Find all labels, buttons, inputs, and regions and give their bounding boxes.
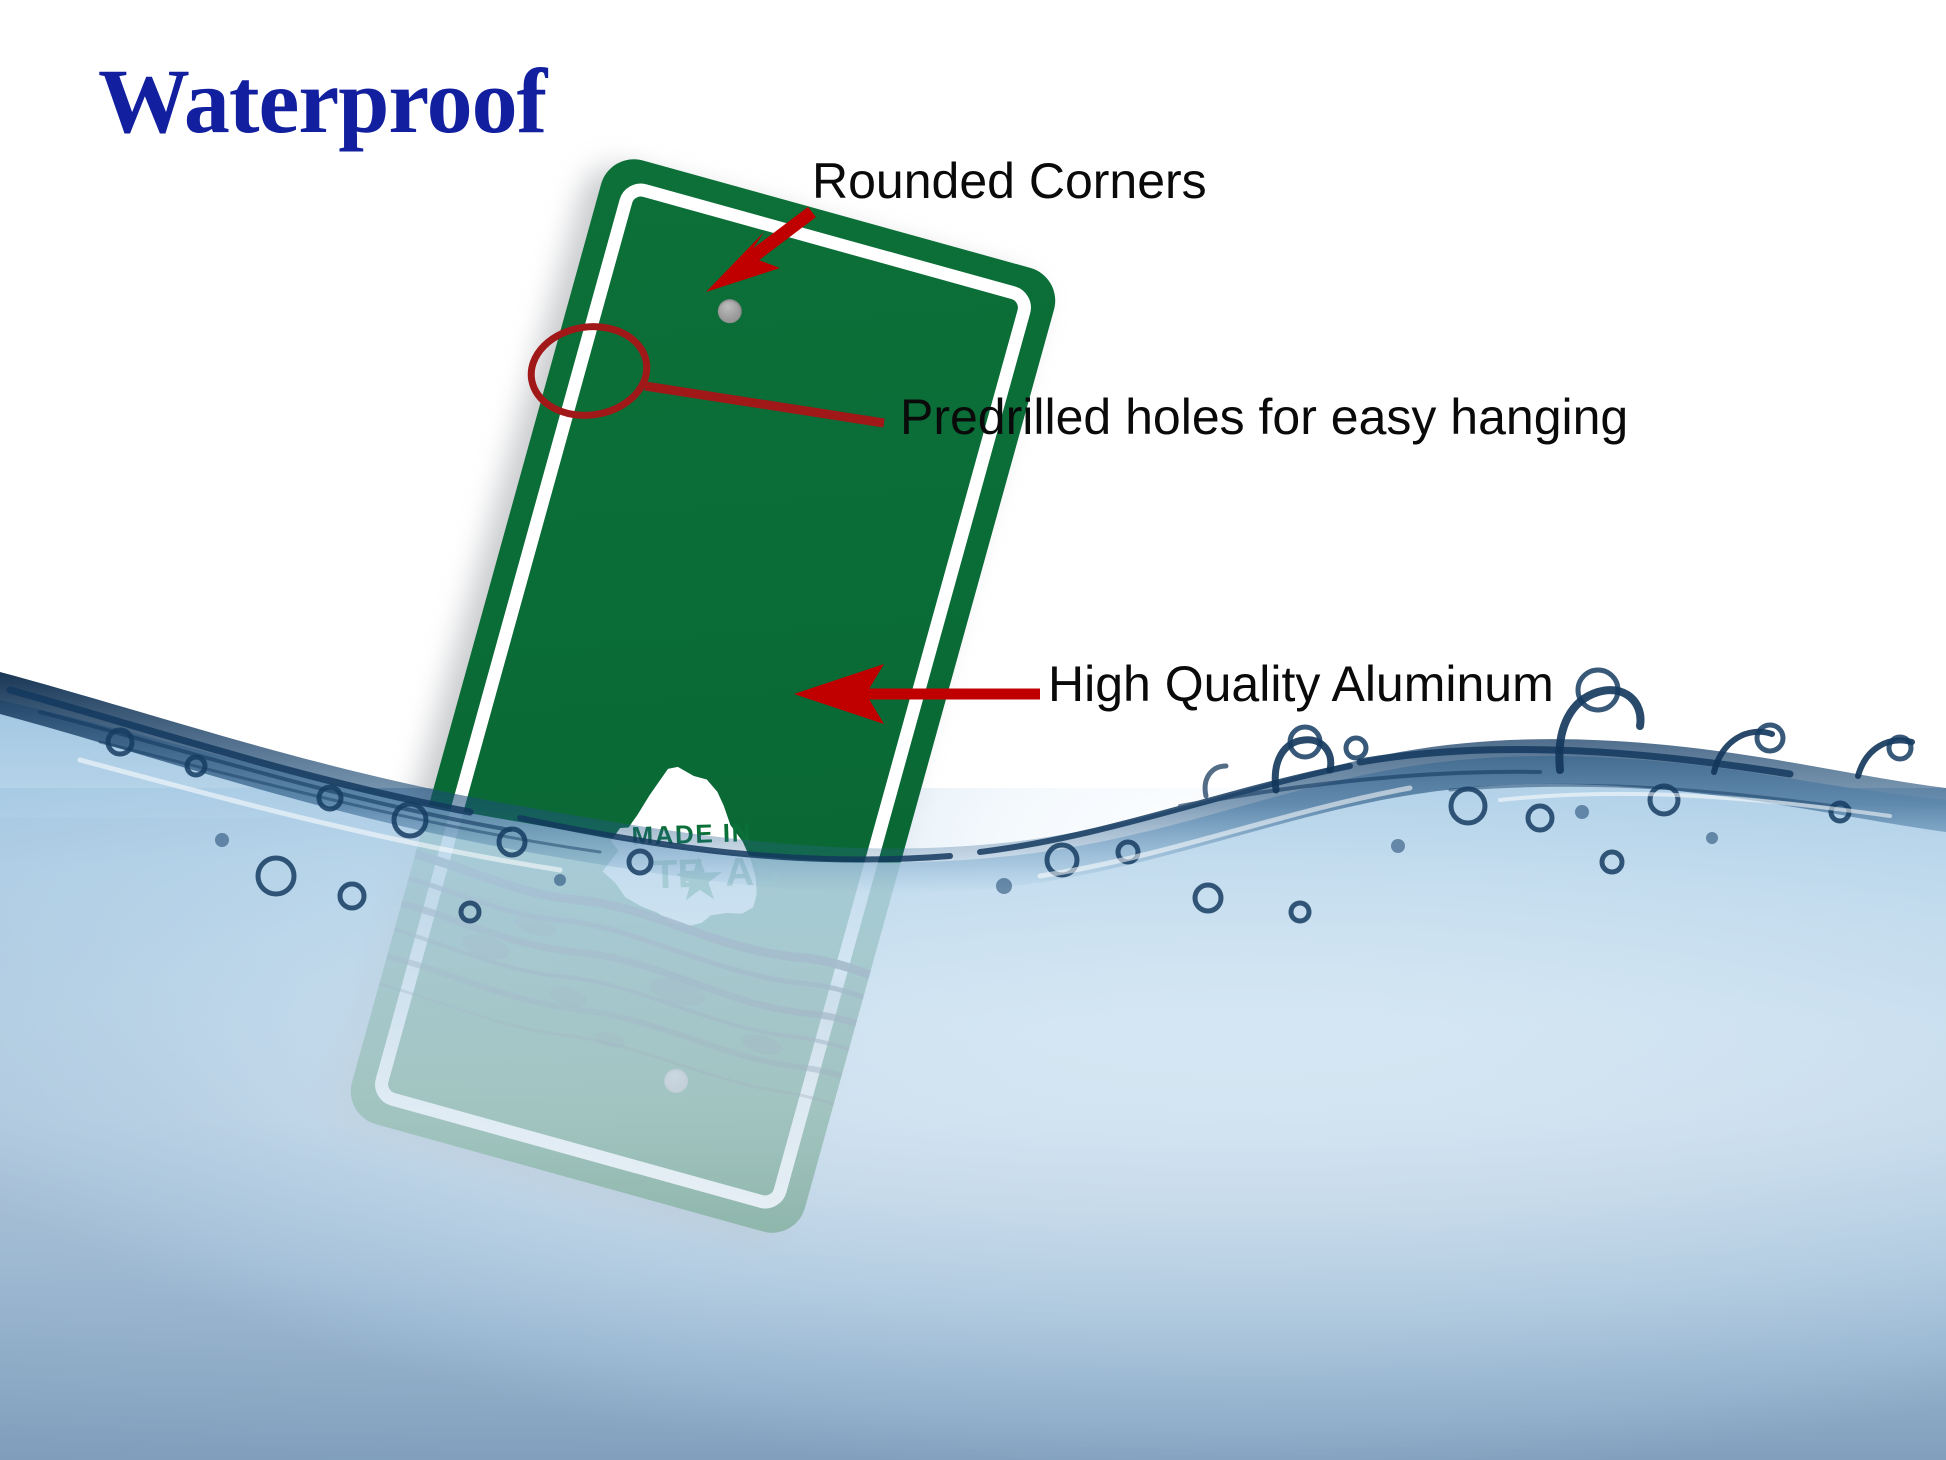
- logo-line-made-in: MADE IN: [631, 817, 752, 851]
- background-water-bottom-shade: [0, 1022, 1946, 1460]
- callout-label-predrilled-holes: Predrilled holes for easy hanging: [900, 388, 1628, 446]
- made-in-texas-logo: MADE IN TE AS: [594, 760, 794, 960]
- page-title: Waterproof: [98, 48, 546, 154]
- logo-line-as: AS: [724, 849, 781, 895]
- callout-label-rounded-corners: Rounded Corners: [812, 152, 1207, 210]
- callout-label-high-quality-aluminum: High Quality Aluminum: [1048, 655, 1554, 713]
- product-feature-graphic: MADE IN TE AS: [0, 0, 1946, 1460]
